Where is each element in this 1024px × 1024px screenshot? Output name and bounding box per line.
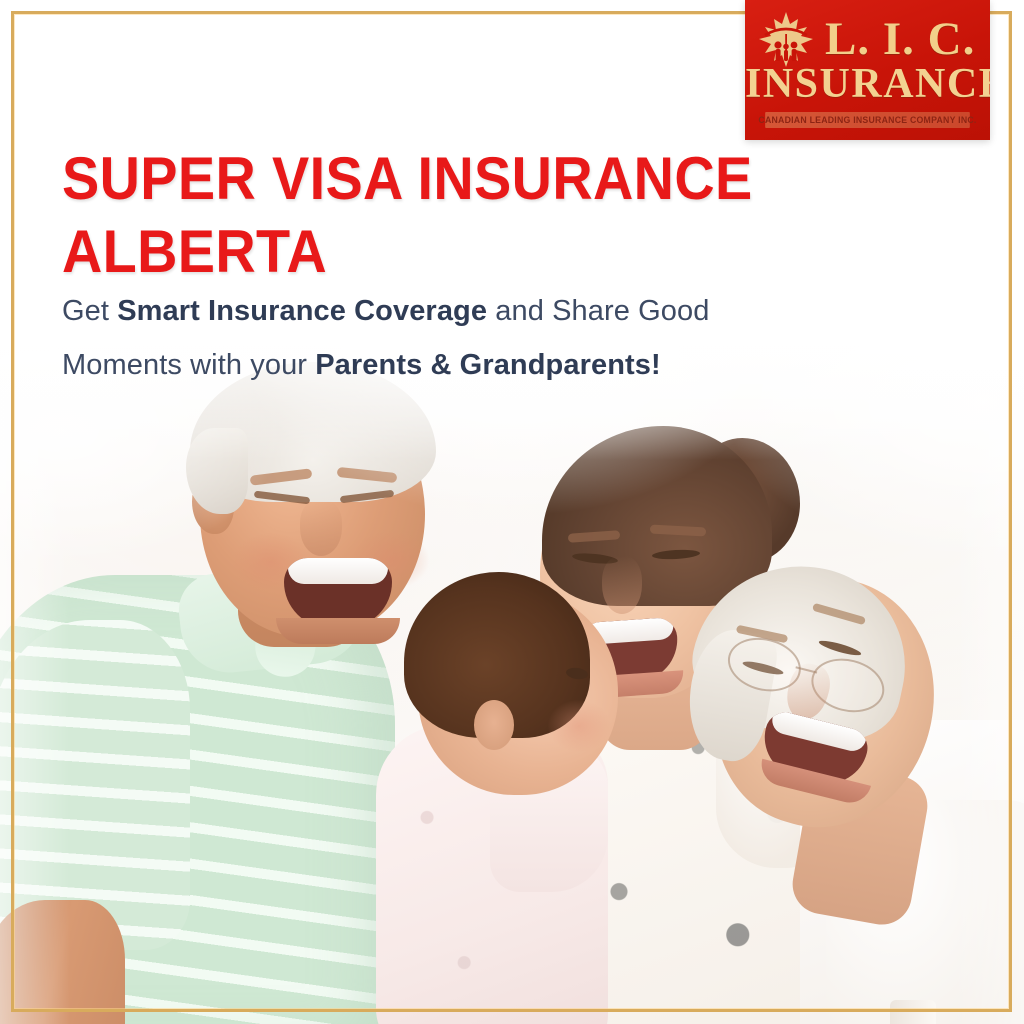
baby-cheek [548, 700, 610, 752]
logo-wordmark: INSURANCE [745, 63, 990, 105]
subheading-text: and Share Good [487, 295, 709, 327]
subheading-emphasis-coverage: Smart Insurance Coverage [117, 295, 487, 327]
headline-line-2: ALBERTA [62, 215, 704, 288]
subheading-text: Moments with your [62, 349, 315, 381]
logo-initials: L. I. C. [825, 16, 975, 63]
grandfather-sleeve [0, 620, 190, 950]
maple-leaf-family-umbrella-icon [751, 9, 821, 69]
subheading: Get Smart Insurance Coverage and Share G… [62, 285, 822, 392]
grandmother-button-placket [890, 1000, 936, 1024]
mother-nose [602, 556, 642, 614]
grandfather-nose [300, 500, 342, 556]
page-title: SUPER VISA INSURANCE ALBERTA [62, 142, 704, 288]
lic-insurance-logo[interactable]: L. I. C. INSURANCE CANADIAN LEADING INSU… [745, 0, 990, 140]
super-visa-insurance-ad: SUPER VISA INSURANCE ALBERTA Get Smart I… [0, 0, 1024, 1024]
family-photo [0, 300, 1024, 1024]
grandfather-arm [0, 900, 125, 1024]
headline-line-1: SUPER VISA INSURANCE [62, 142, 704, 215]
grandfather-teeth [288, 558, 388, 584]
grandfather-lower-lip [276, 618, 400, 644]
subheading-line-1: Get Smart Insurance Coverage and Share G… [62, 285, 822, 339]
subheading-text: Get [62, 295, 117, 327]
logo-tagline: CANADIAN LEADING INSURANCE COMPANY INC. [765, 112, 970, 128]
subheading-line-2: Moments with your Parents & Grandparents… [62, 339, 822, 393]
baby-ear [474, 700, 514, 750]
subheading-emphasis-family: Parents & Grandparents! [315, 349, 661, 381]
